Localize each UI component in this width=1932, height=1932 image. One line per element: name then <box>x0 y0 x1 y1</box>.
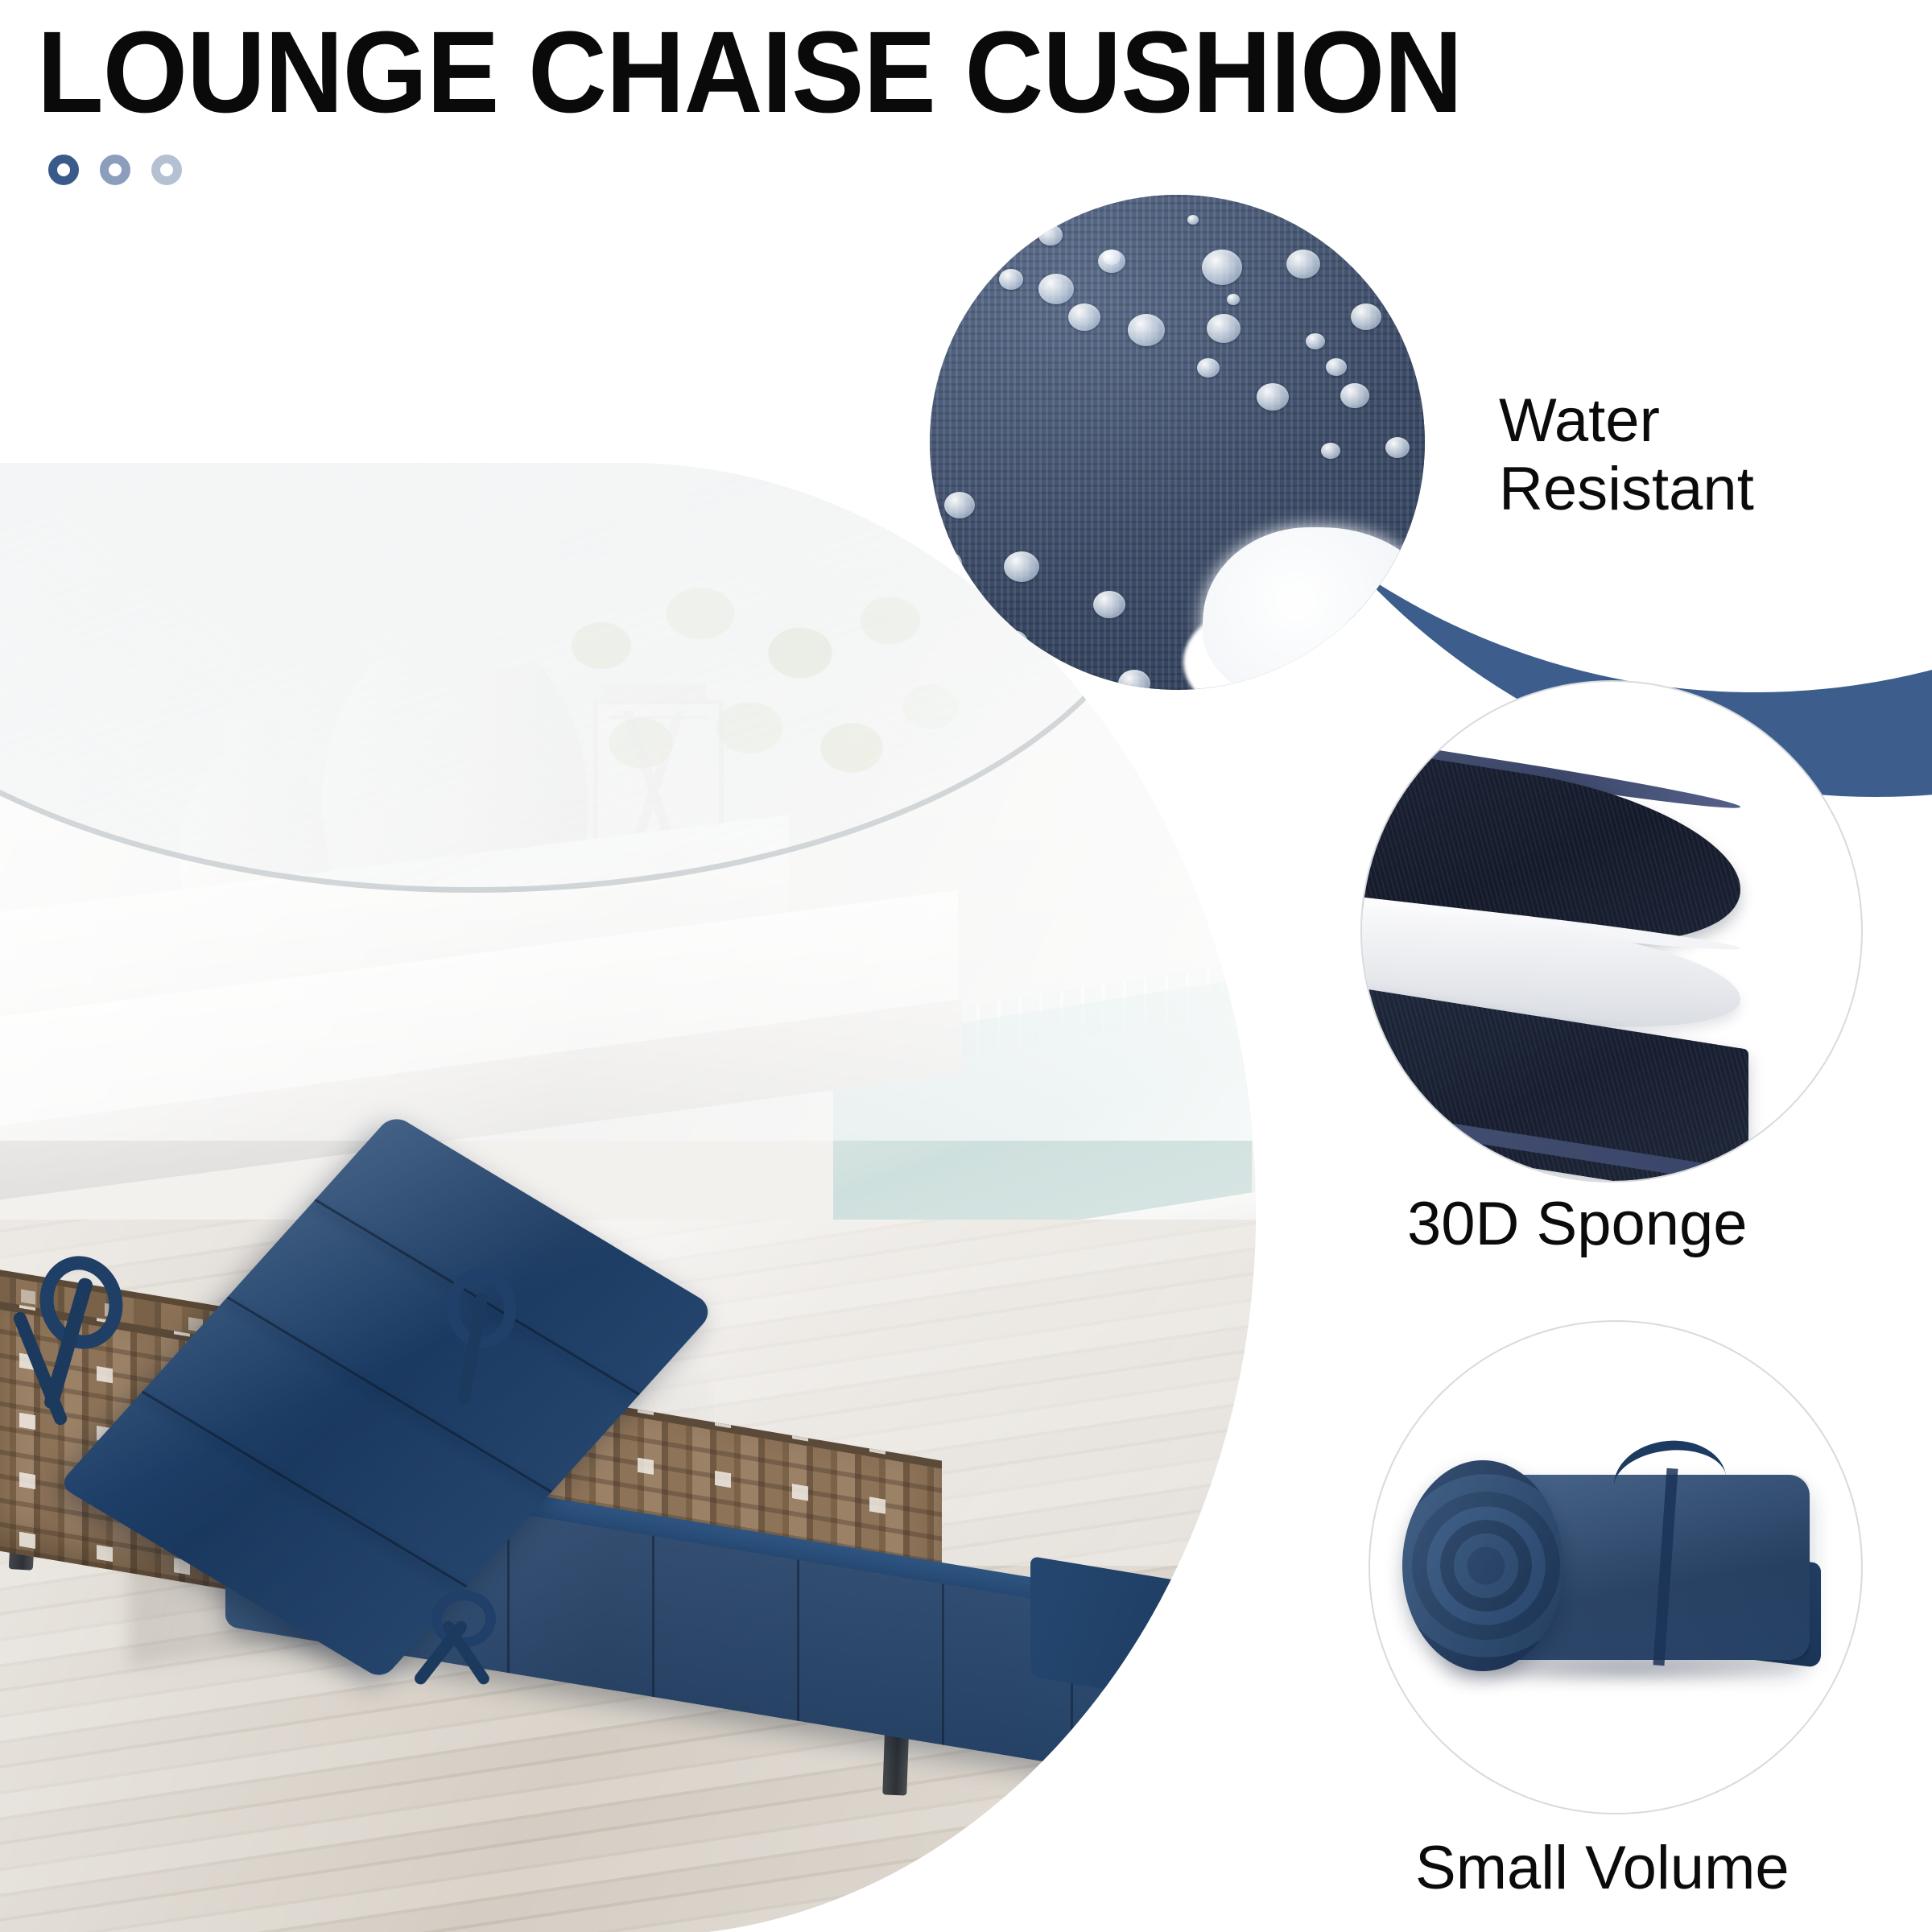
pagination-dot-2[interactable] <box>100 155 130 185</box>
pagination-dot-1[interactable] <box>48 155 79 185</box>
sponge-layer-cutaway <box>1360 680 1863 1183</box>
marketing-graphic: LOUNGE CHAISE CUSHION <box>0 0 1932 1932</box>
page-title: LOUNGE CHAISE CUSHION <box>37 14 1462 130</box>
feature-label-water-resistant: Water Resistant <box>1499 386 1754 523</box>
water-resistant-fabric-closeup <box>930 195 1425 690</box>
pagination-dots <box>48 155 182 185</box>
pagination-dot-3[interactable] <box>151 155 182 185</box>
rolled-cushion-photo <box>1368 1320 1863 1814</box>
feature-label-small-volume: Small Volume <box>1415 1834 1790 1902</box>
feature-label-sponge: 30D Sponge <box>1407 1190 1748 1258</box>
